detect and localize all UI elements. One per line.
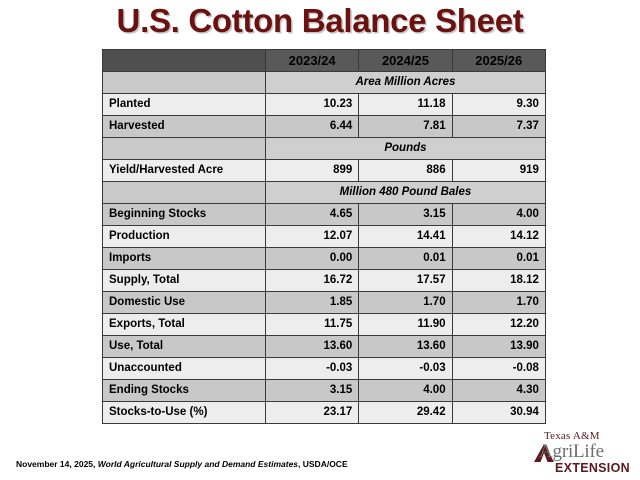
table-row: Domestic Use1.851.701.70 <box>103 292 546 314</box>
row-label: Production <box>103 226 266 248</box>
section-blank-cell <box>103 72 266 94</box>
row-value: 0.01 <box>452 248 545 270</box>
footer-publication: World Agricultural Supply and Demand Est… <box>98 459 298 469</box>
row-value: 899 <box>266 160 359 182</box>
row-value: 7.37 <box>452 116 545 138</box>
cotton-balance-table: 2023/242024/252025/26Area Million AcresP… <box>102 49 546 424</box>
row-value: 16.72 <box>266 270 359 292</box>
row-value: 13.60 <box>359 336 452 358</box>
table-row: Imports0.000.010.01 <box>103 248 546 270</box>
row-label: Harvested <box>103 116 266 138</box>
row-value: 7.81 <box>359 116 452 138</box>
row-value: 10.23 <box>266 94 359 116</box>
section-unit-label: Pounds <box>266 138 546 160</box>
row-value: 3.15 <box>266 380 359 402</box>
row-value: 12.07 <box>266 226 359 248</box>
table-section-row: Million 480 Pound Bales <box>103 182 546 204</box>
table-header-row: 2023/242024/252025/26 <box>103 50 546 72</box>
row-value: 0.01 <box>359 248 452 270</box>
column-header-1: 2023/24 <box>266 50 359 72</box>
row-value: 18.12 <box>452 270 545 292</box>
row-value: 3.15 <box>359 204 452 226</box>
row-value: 4.00 <box>359 380 452 402</box>
row-label: Yield/Harvested Acre <box>103 160 266 182</box>
logo-extension-text: EXTENSION <box>555 461 630 475</box>
row-label: Supply, Total <box>103 270 266 292</box>
table-row: Exports, Total11.7511.9012.20 <box>103 314 546 336</box>
row-value: 14.41 <box>359 226 452 248</box>
row-value: 12.20 <box>452 314 545 336</box>
row-value: 13.90 <box>452 336 545 358</box>
table-row: Planted10.2311.189.30 <box>103 94 546 116</box>
footer-source-note: November 14, 2025, World Agricultural Su… <box>16 459 348 469</box>
row-value: 9.30 <box>452 94 545 116</box>
row-value: 0.00 <box>266 248 359 270</box>
row-value: 1.70 <box>452 292 545 314</box>
row-value: 11.18 <box>359 94 452 116</box>
table-row: Yield/Harvested Acre899886919 <box>103 160 546 182</box>
row-value: 29.42 <box>359 402 452 424</box>
table-row: Beginning Stocks4.653.154.00 <box>103 204 546 226</box>
row-label: Use, Total <box>103 336 266 358</box>
logo-agrilife-text: AgriLife <box>539 441 604 463</box>
column-header-3: 2025/26 <box>452 50 545 72</box>
table-row: Stocks-to-Use (%)23.1729.4230.94 <box>103 402 546 424</box>
row-label: Imports <box>103 248 266 270</box>
row-value: 13.60 <box>266 336 359 358</box>
section-blank-cell <box>103 182 266 204</box>
section-unit-label: Million 480 Pound Bales <box>266 182 546 204</box>
table-section-row: Area Million Acres <box>103 72 546 94</box>
table-row: Supply, Total16.7217.5718.12 <box>103 270 546 292</box>
footer-date: November 14, 2025, <box>16 459 95 469</box>
page-title: U.S. Cotton Balance Sheet <box>0 2 640 40</box>
row-value: -0.03 <box>266 358 359 380</box>
row-value: 23.17 <box>266 402 359 424</box>
agrilife-extension-logo: Texas A&M AgriLife EXTENSION <box>533 430 637 476</box>
row-value: 4.30 <box>452 380 545 402</box>
row-label: Ending Stocks <box>103 380 266 402</box>
row-label: Exports, Total <box>103 314 266 336</box>
row-value: 1.70 <box>359 292 452 314</box>
row-value: 4.00 <box>452 204 545 226</box>
row-value: 30.94 <box>452 402 545 424</box>
section-unit-label: Area Million Acres <box>266 72 546 94</box>
row-value: 919 <box>452 160 545 182</box>
row-value: 11.90 <box>359 314 452 336</box>
row-value: 886 <box>359 160 452 182</box>
row-value: 4.65 <box>266 204 359 226</box>
row-value: 17.57 <box>359 270 452 292</box>
row-label: Beginning Stocks <box>103 204 266 226</box>
row-value: -0.08 <box>452 358 545 380</box>
table-section-row: Pounds <box>103 138 546 160</box>
row-value: 6.44 <box>266 116 359 138</box>
row-label: Planted <box>103 94 266 116</box>
row-label: Unaccounted <box>103 358 266 380</box>
row-value: -0.03 <box>359 358 452 380</box>
table-row: Ending Stocks3.154.004.30 <box>103 380 546 402</box>
table-row: Unaccounted-0.03-0.03-0.08 <box>103 358 546 380</box>
row-value: 11.75 <box>266 314 359 336</box>
row-value: 1.85 <box>266 292 359 314</box>
header-corner-cell <box>103 50 266 72</box>
row-label: Stocks-to-Use (%) <box>103 402 266 424</box>
column-header-2: 2024/25 <box>359 50 452 72</box>
footer-source: , USDA/OCE <box>298 459 348 469</box>
section-blank-cell <box>103 138 266 160</box>
table-row: Use, Total13.6013.6013.90 <box>103 336 546 358</box>
table-row: Production12.0714.4114.12 <box>103 226 546 248</box>
table-row: Harvested6.447.817.37 <box>103 116 546 138</box>
row-label: Domestic Use <box>103 292 266 314</box>
row-value: 14.12 <box>452 226 545 248</box>
